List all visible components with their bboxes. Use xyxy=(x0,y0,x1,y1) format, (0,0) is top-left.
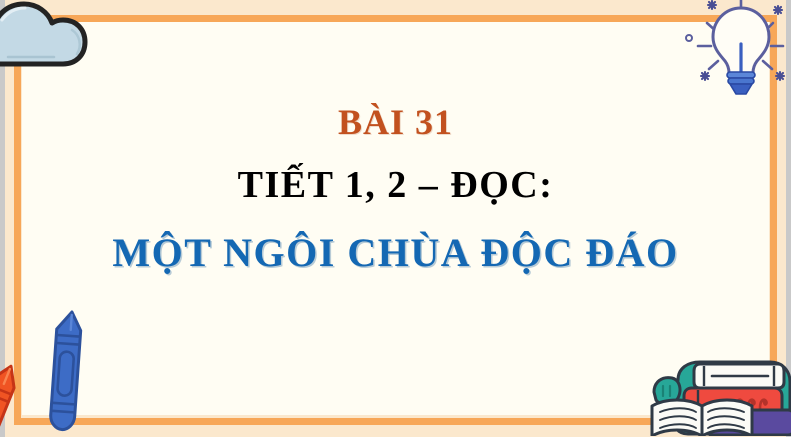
title-text-block: BÀI 31 TIẾT 1, 2 – ĐỌC: MỘT NGÔI CHÙA ĐỘ… xyxy=(0,104,791,274)
light-bulb-icon xyxy=(681,0,791,101)
frame-border-top xyxy=(14,15,777,22)
reading-title-heading: MỘT NGÔI CHÙA ĐỘC ĐÁO xyxy=(0,232,791,274)
book-stack-icon xyxy=(648,344,791,437)
lesson-number-heading: BÀI 31 xyxy=(0,104,791,142)
crayons-icon xyxy=(0,303,126,437)
slide-canvas: BÀI 31 TIẾT 1, 2 – ĐỌC: MỘT NGÔI CHÙA ĐỘ… xyxy=(0,0,791,437)
session-heading: TIẾT 1, 2 – ĐỌC: xyxy=(0,166,791,206)
cloud-icon xyxy=(0,0,97,83)
